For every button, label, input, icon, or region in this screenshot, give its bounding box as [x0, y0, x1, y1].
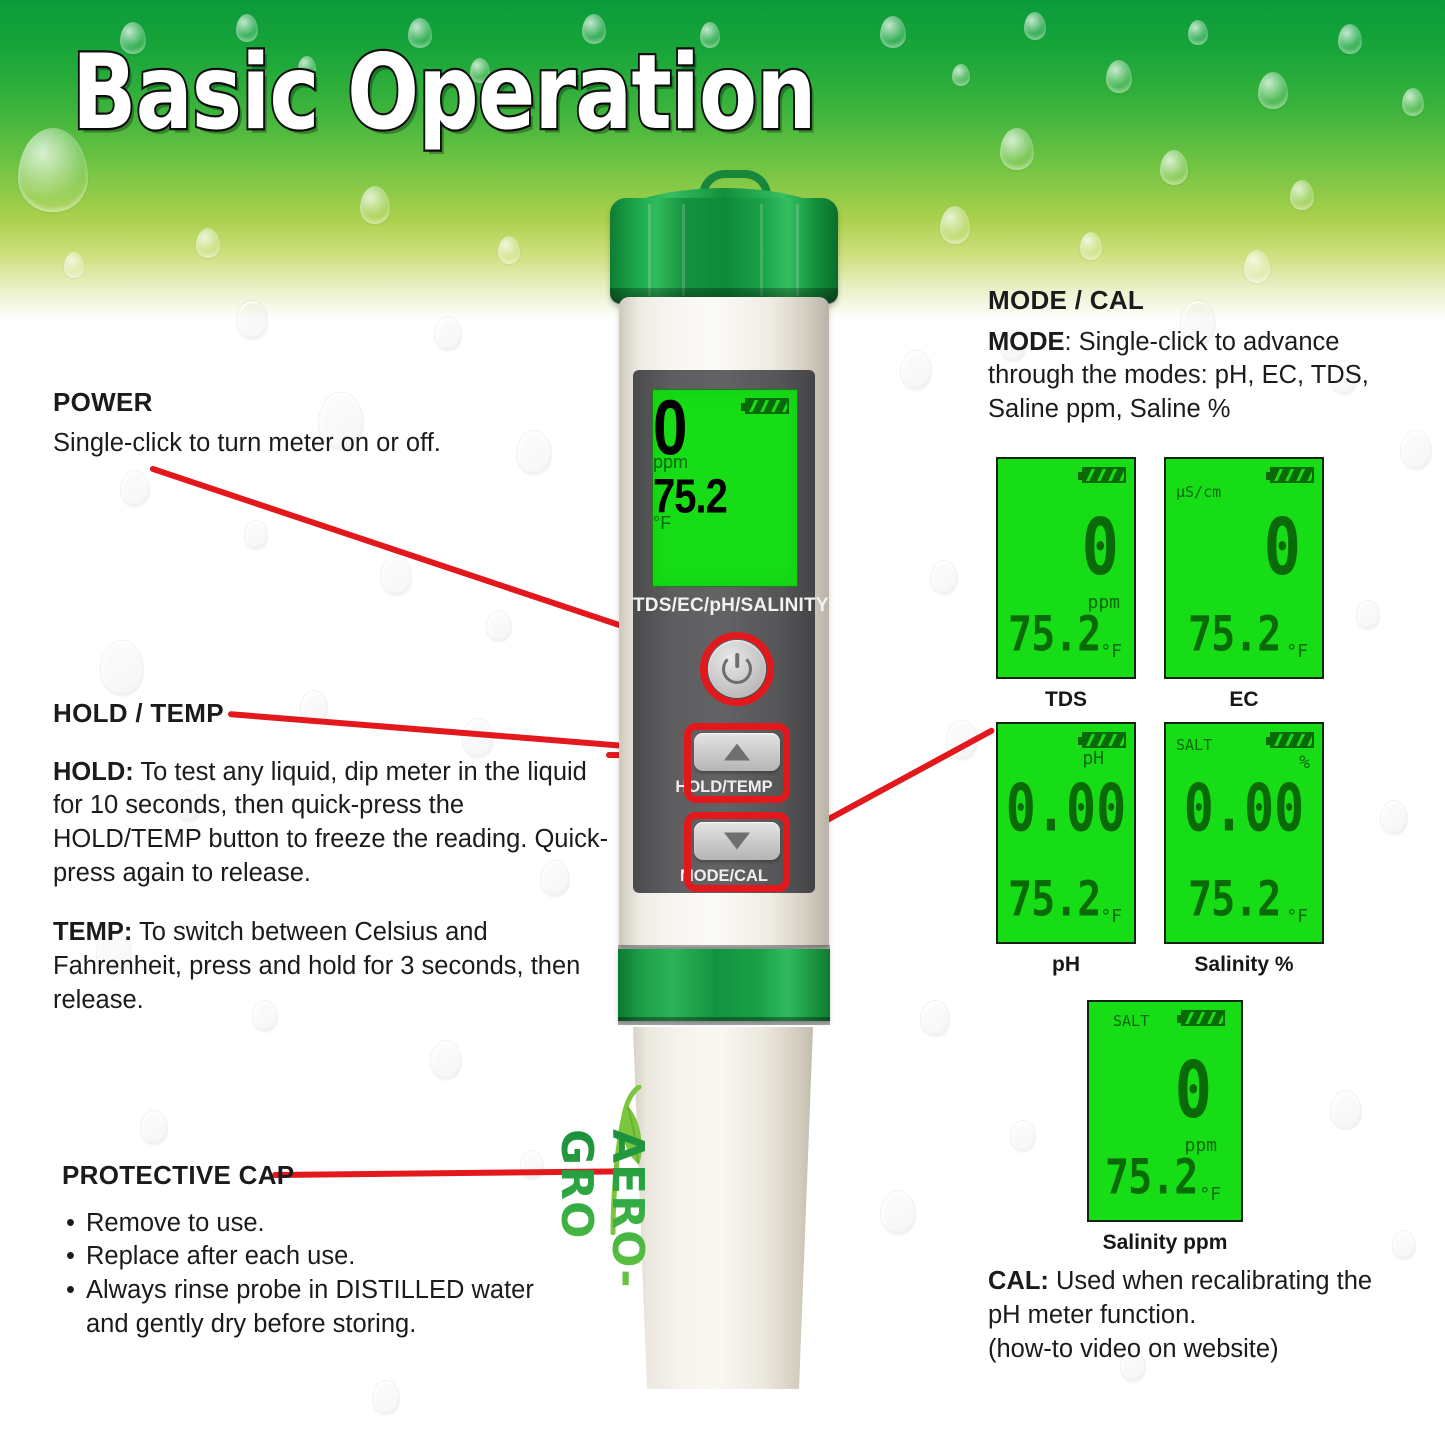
- water-droplet-icon: [1330, 1090, 1362, 1130]
- water-droplet-icon: [1400, 430, 1432, 470]
- main-lcd-display: 0 ppm 75.2 °F: [652, 389, 798, 587]
- water-droplet-icon: [236, 300, 268, 340]
- screen-temp-unit: °F: [1100, 641, 1122, 662]
- mode-screen-ec: µS/cm 0 75.2 °F: [1164, 457, 1324, 679]
- battery-icon: [1082, 467, 1126, 483]
- screen-temp-unit: °F: [1286, 906, 1308, 927]
- meter-mid-band: [618, 949, 830, 1021]
- hold-paragraph: HOLD: To test any liquid, dip meter in t…: [53, 756, 618, 892]
- water-droplet-icon: [1356, 600, 1380, 630]
- screen-top-right-label: pH: [1082, 748, 1104, 769]
- panel-function-label: TDS/EC/pH/SALINITY: [633, 595, 815, 617]
- cal-note: (how-to video on website): [988, 1333, 1388, 1367]
- water-droplet-icon: [498, 236, 520, 264]
- screen-value: 0: [1082, 509, 1118, 587]
- water-droplet-icon: [1080, 232, 1102, 260]
- water-droplet-icon: [1010, 1120, 1036, 1152]
- water-droplet-icon: [1000, 128, 1034, 170]
- water-droplet-icon: [430, 1040, 462, 1080]
- screen-temp-unit: °F: [1199, 1184, 1221, 1205]
- brand-name: AERO-GRO: [551, 1129, 653, 1335]
- water-droplet-icon: [880, 1190, 916, 1235]
- mode-cal-heading: MODE / CAL: [988, 283, 1388, 318]
- cal-label: CAL:: [988, 1267, 1049, 1295]
- water-droplet-icon: [952, 64, 970, 86]
- water-droplet-icon: [1402, 88, 1424, 116]
- water-droplet-icon: [930, 560, 958, 595]
- infographic-canvas: Basic Operation POWER Single-click to tu…: [0, 0, 1445, 1445]
- hold-body: To test any liquid, dip meter in the liq…: [53, 758, 608, 888]
- screen-temp: 75.2: [1105, 1154, 1197, 1202]
- power-heading: POWER: [53, 385, 573, 420]
- page-title: Basic Operation: [72, 33, 816, 153]
- meter-body-lower: [623, 1027, 823, 1389]
- screen-value: 0: [1264, 509, 1300, 587]
- highlight-hold-temp-button: [684, 723, 790, 803]
- water-droplet-icon: [120, 470, 150, 507]
- screen-temp: 75.2: [1188, 876, 1280, 924]
- water-droplet-icon: [196, 228, 220, 258]
- screen-temp-unit: °F: [1100, 906, 1122, 927]
- screen-value: 0.00: [1184, 776, 1304, 841]
- water-droplet-icon: [1244, 250, 1270, 283]
- water-droplet-icon: [1258, 72, 1288, 109]
- mode-screen-label-ph: pH: [996, 953, 1136, 977]
- mode-screen-tds: 0 ppm 75.2 °F: [996, 457, 1136, 679]
- highlight-mode-cal-button: [684, 812, 790, 892]
- main-temp-value: 75.2: [653, 473, 797, 521]
- water-droplet-icon: [900, 350, 932, 390]
- water-droplet-icon: [1392, 1230, 1416, 1260]
- water-droplet-icon: [244, 520, 268, 550]
- water-droplet-icon: [1380, 800, 1408, 835]
- temp-paragraph: TEMP: To switch between Celsius and Fahr…: [53, 916, 618, 1018]
- water-droplet-icon: [1290, 180, 1314, 210]
- screen-temp: 75.2: [1008, 611, 1100, 659]
- mode-screen-ph: pH 0.00 75.2 °F: [996, 722, 1136, 944]
- screen-top-left-label: µS/cm: [1176, 483, 1221, 501]
- section-hold-temp: HOLD / TEMP HOLD: To test any liquid, di…: [53, 696, 618, 1018]
- section-mode-cal: MODE / CAL MODE: Single-click to advance…: [988, 283, 1388, 427]
- screen-temp: 75.2: [1008, 876, 1100, 924]
- water-droplet-icon: [140, 1110, 168, 1145]
- screen-top-left-label: SALT: [1113, 1012, 1149, 1030]
- brand-logo: AERO-GRO: [503, 1085, 653, 1335]
- mode-screen-label-salinity-percent: Salinity %: [1164, 953, 1324, 977]
- water-droplet-icon: [1188, 20, 1208, 45]
- screen-value: 0: [1175, 1052, 1211, 1130]
- mode-screen-label-salinity-ppm: Salinity ppm: [1067, 1231, 1263, 1255]
- band-edge-bottom: [618, 1017, 830, 1025]
- screen-temp: 75.2: [1188, 611, 1280, 659]
- temp-body: To switch between Celsius and Fahrenheit…: [53, 918, 580, 1014]
- water-droplet-icon: [880, 16, 906, 48]
- mode-screen-salinity-percent: SALT % 0.00 75.2 °F: [1164, 722, 1324, 944]
- water-droplet-icon: [920, 1000, 950, 1037]
- screen-temp-unit: °F: [1286, 641, 1308, 662]
- water-droplet-icon: [380, 556, 412, 596]
- highlight-power-button: [700, 632, 774, 706]
- battery-icon: [1270, 467, 1314, 483]
- water-droplet-icon: [940, 206, 970, 244]
- mode-screen-label-tds: TDS: [996, 688, 1136, 712]
- battery-icon: [1270, 732, 1314, 748]
- water-droplet-icon: [1160, 150, 1188, 185]
- water-droplet-icon: [486, 610, 512, 642]
- screen-value: 0.00: [1006, 776, 1126, 841]
- water-droplet-icon: [64, 252, 84, 278]
- hold-label: HOLD:: [53, 758, 134, 786]
- mode-screen-label-ec: EC: [1164, 688, 1324, 712]
- mode-label: MODE: [988, 328, 1065, 356]
- water-droplet-icon: [1024, 12, 1046, 40]
- battery-icon: [1082, 732, 1126, 748]
- water-droplet-icon: [372, 1380, 400, 1415]
- water-droplet-icon: [100, 640, 144, 696]
- power-body: Single-click to turn meter on or off.: [53, 427, 573, 461]
- mode-paragraph: MODE: Single-click to advance through th…: [988, 326, 1388, 428]
- temp-label: TEMP:: [53, 918, 132, 946]
- screen-top-left-label: SALT: [1176, 736, 1212, 754]
- main-reading-value: 0: [653, 390, 797, 468]
- section-power: POWER Single-click to turn meter on or o…: [53, 385, 573, 460]
- water-droplet-icon: [1338, 24, 1362, 54]
- mode-screen-salinity-ppm: SALT 0 ppm 75.2 °F: [1087, 1000, 1243, 1222]
- cal-paragraph: CAL: Used when recalibrating the pH mete…: [988, 1265, 1388, 1333]
- water-droplet-icon: [360, 186, 390, 224]
- meter-device: 0 ppm 75.2 °F TDS/EC/pH/SALINITY HOLD/TE…: [596, 170, 856, 1395]
- water-droplet-icon: [434, 316, 462, 351]
- battery-icon: [1181, 1010, 1225, 1026]
- water-droplet-icon: [1106, 60, 1132, 93]
- hold-temp-heading: HOLD / TEMP: [53, 696, 618, 731]
- section-cal: CAL: Used when recalibrating the pH mete…: [988, 1265, 1388, 1367]
